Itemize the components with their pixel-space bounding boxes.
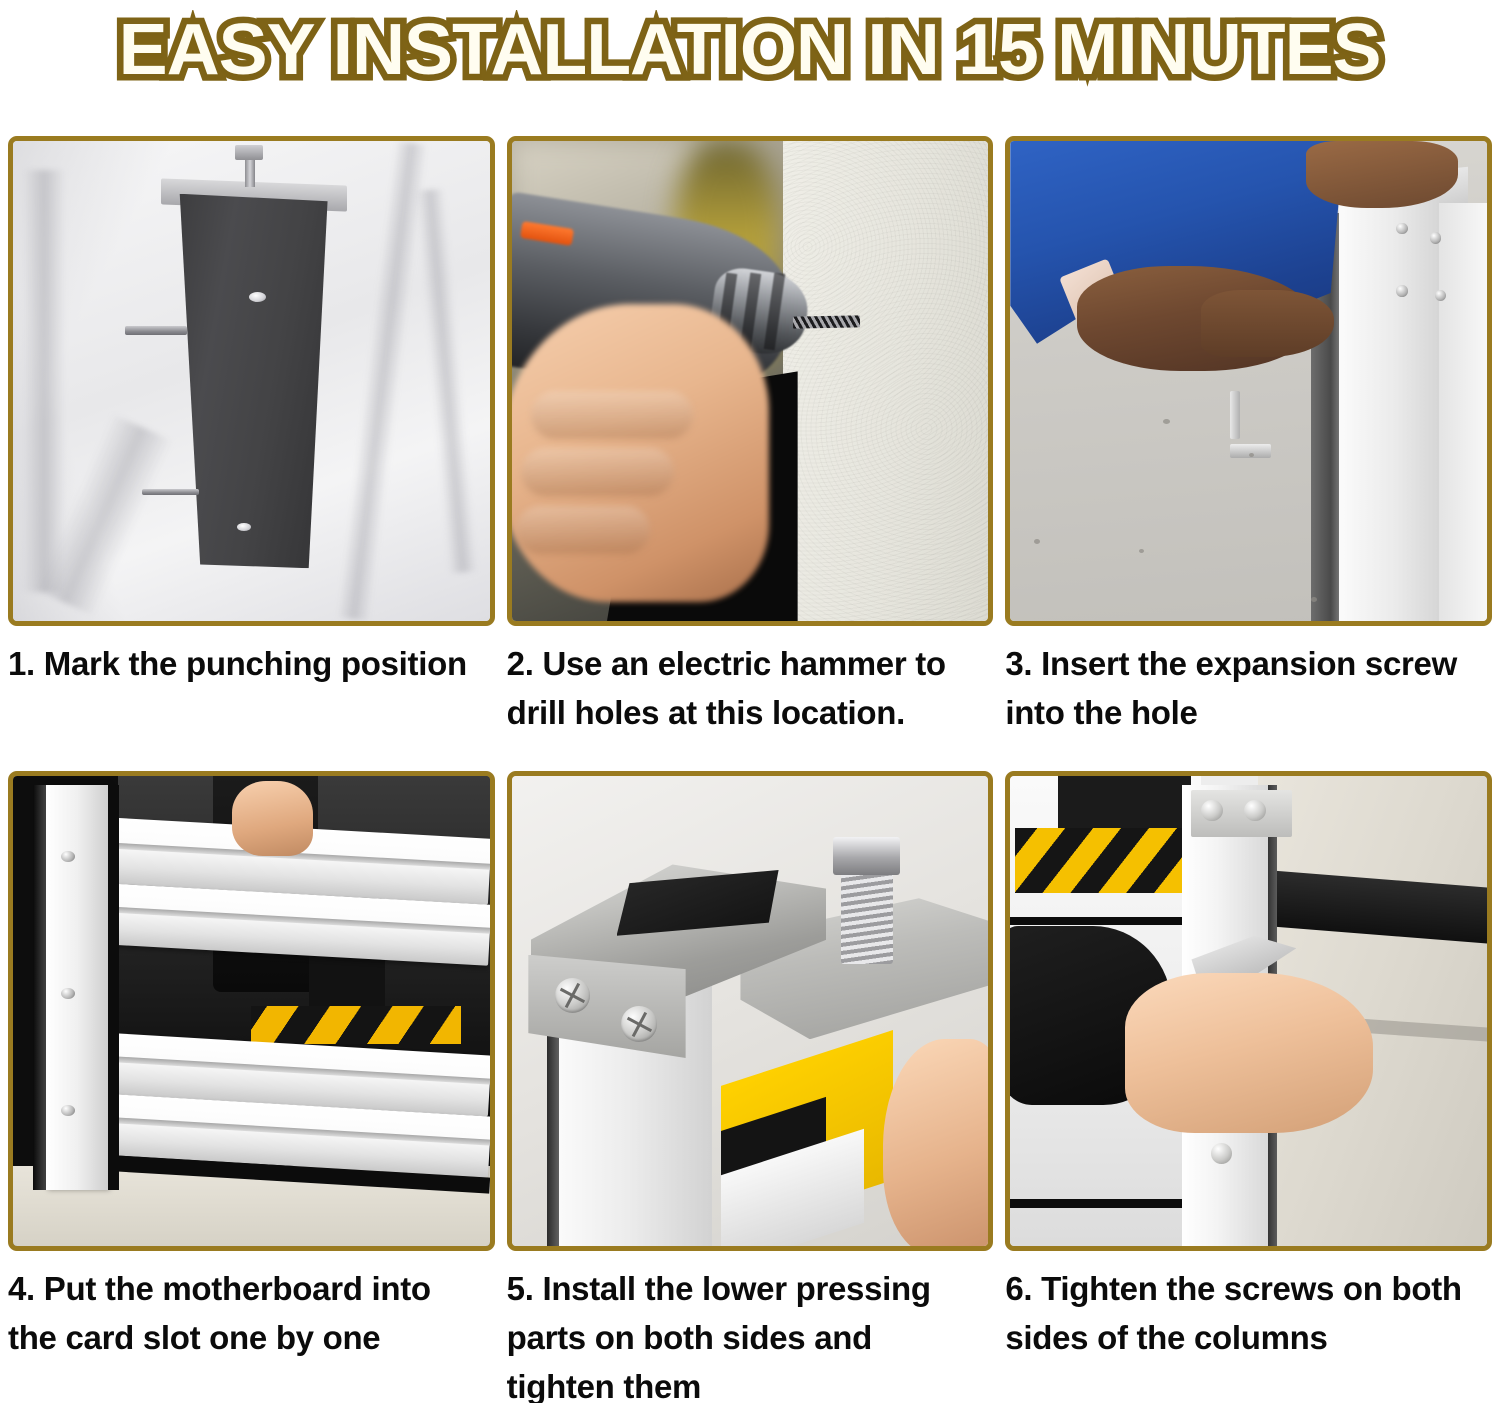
step-5-photo — [507, 771, 994, 1251]
floor-speck — [1311, 597, 1317, 602]
board-edge — [104, 906, 490, 933]
hex-key-icon — [1230, 391, 1278, 458]
step-3-caption: 3. Insert the expansion screw into the h… — [1005, 626, 1492, 771]
worker-second-hand — [1306, 141, 1459, 208]
step-3-scene — [1010, 141, 1487, 621]
step-6-caption: 6. Tighten the screws on both sides of t… — [1005, 1251, 1492, 1391]
step-6-photo — [1005, 771, 1492, 1251]
column-dark-edge — [33, 785, 47, 1189]
drill-bit — [793, 316, 860, 330]
mounting-hole-lower — [237, 523, 251, 531]
phillips-screw — [1244, 800, 1266, 822]
phillips-screw — [1201, 800, 1223, 822]
textured-wall — [783, 141, 988, 621]
step-1-scene — [13, 141, 490, 621]
side-stud-upper — [125, 326, 187, 335]
step-1-caption: 1. Mark the punching position — [8, 626, 495, 771]
step-2-photo — [507, 136, 994, 626]
column-rear-edge — [108, 785, 118, 1189]
column-front-face — [1339, 194, 1439, 621]
page-title: EASY INSTALLATION IN 15 MINUTES — [119, 10, 1381, 90]
step-2-scene — [512, 141, 989, 621]
column-front — [46, 785, 108, 1189]
title-banner: EASY INSTALLATION IN 15 MINUTES — [0, 0, 1500, 100]
column-screw-hole — [1396, 285, 1407, 297]
step-3-photo — [1005, 136, 1492, 626]
cloth-fold — [23, 170, 66, 592]
finger — [531, 391, 693, 439]
phillips-screw — [621, 1006, 657, 1041]
worker-fingers — [1201, 290, 1334, 357]
installation-guide-page: EASY INSTALLATION IN 15 MINUTES — [0, 0, 1500, 1403]
step-4-scene — [13, 776, 490, 1246]
column-right-face — [1439, 203, 1487, 621]
worker-hand — [1125, 973, 1373, 1133]
worker-hand — [232, 781, 313, 856]
dark-gap-top — [1058, 776, 1191, 828]
rod-nut — [235, 145, 263, 160]
finger — [521, 448, 674, 496]
step-1-photo — [8, 136, 495, 626]
step-4-caption: 4. Put the motherboard into the card slo… — [8, 1251, 495, 1391]
step-5-caption: 5. Install the lower pressing parts on b… — [507, 1251, 994, 1391]
step-4-photo — [8, 771, 495, 1251]
column-screw-hole — [61, 988, 75, 999]
board-seam — [1010, 917, 1191, 925]
column-screw-hole — [1430, 232, 1441, 244]
finger — [516, 506, 649, 554]
step-6-scene — [1010, 776, 1487, 1246]
board-seam — [1010, 1199, 1191, 1208]
hazard-stripe — [1015, 828, 1182, 894]
floor-speck — [1249, 453, 1254, 457]
board-edge — [99, 1056, 489, 1085]
floor-speck — [1139, 549, 1144, 553]
column-screw-hole — [1396, 223, 1407, 235]
side-stud-lower — [142, 489, 199, 495]
step-2-caption: 2. Use an electric hammer to drill holes… — [507, 626, 994, 771]
steps-grid: 1. Mark the punching position 2. Use an … — [8, 136, 1492, 1391]
step-5-scene — [512, 776, 989, 1246]
bolt-head — [833, 837, 900, 875]
board-edge — [99, 1117, 489, 1146]
hazard-stripe — [251, 1006, 461, 1044]
